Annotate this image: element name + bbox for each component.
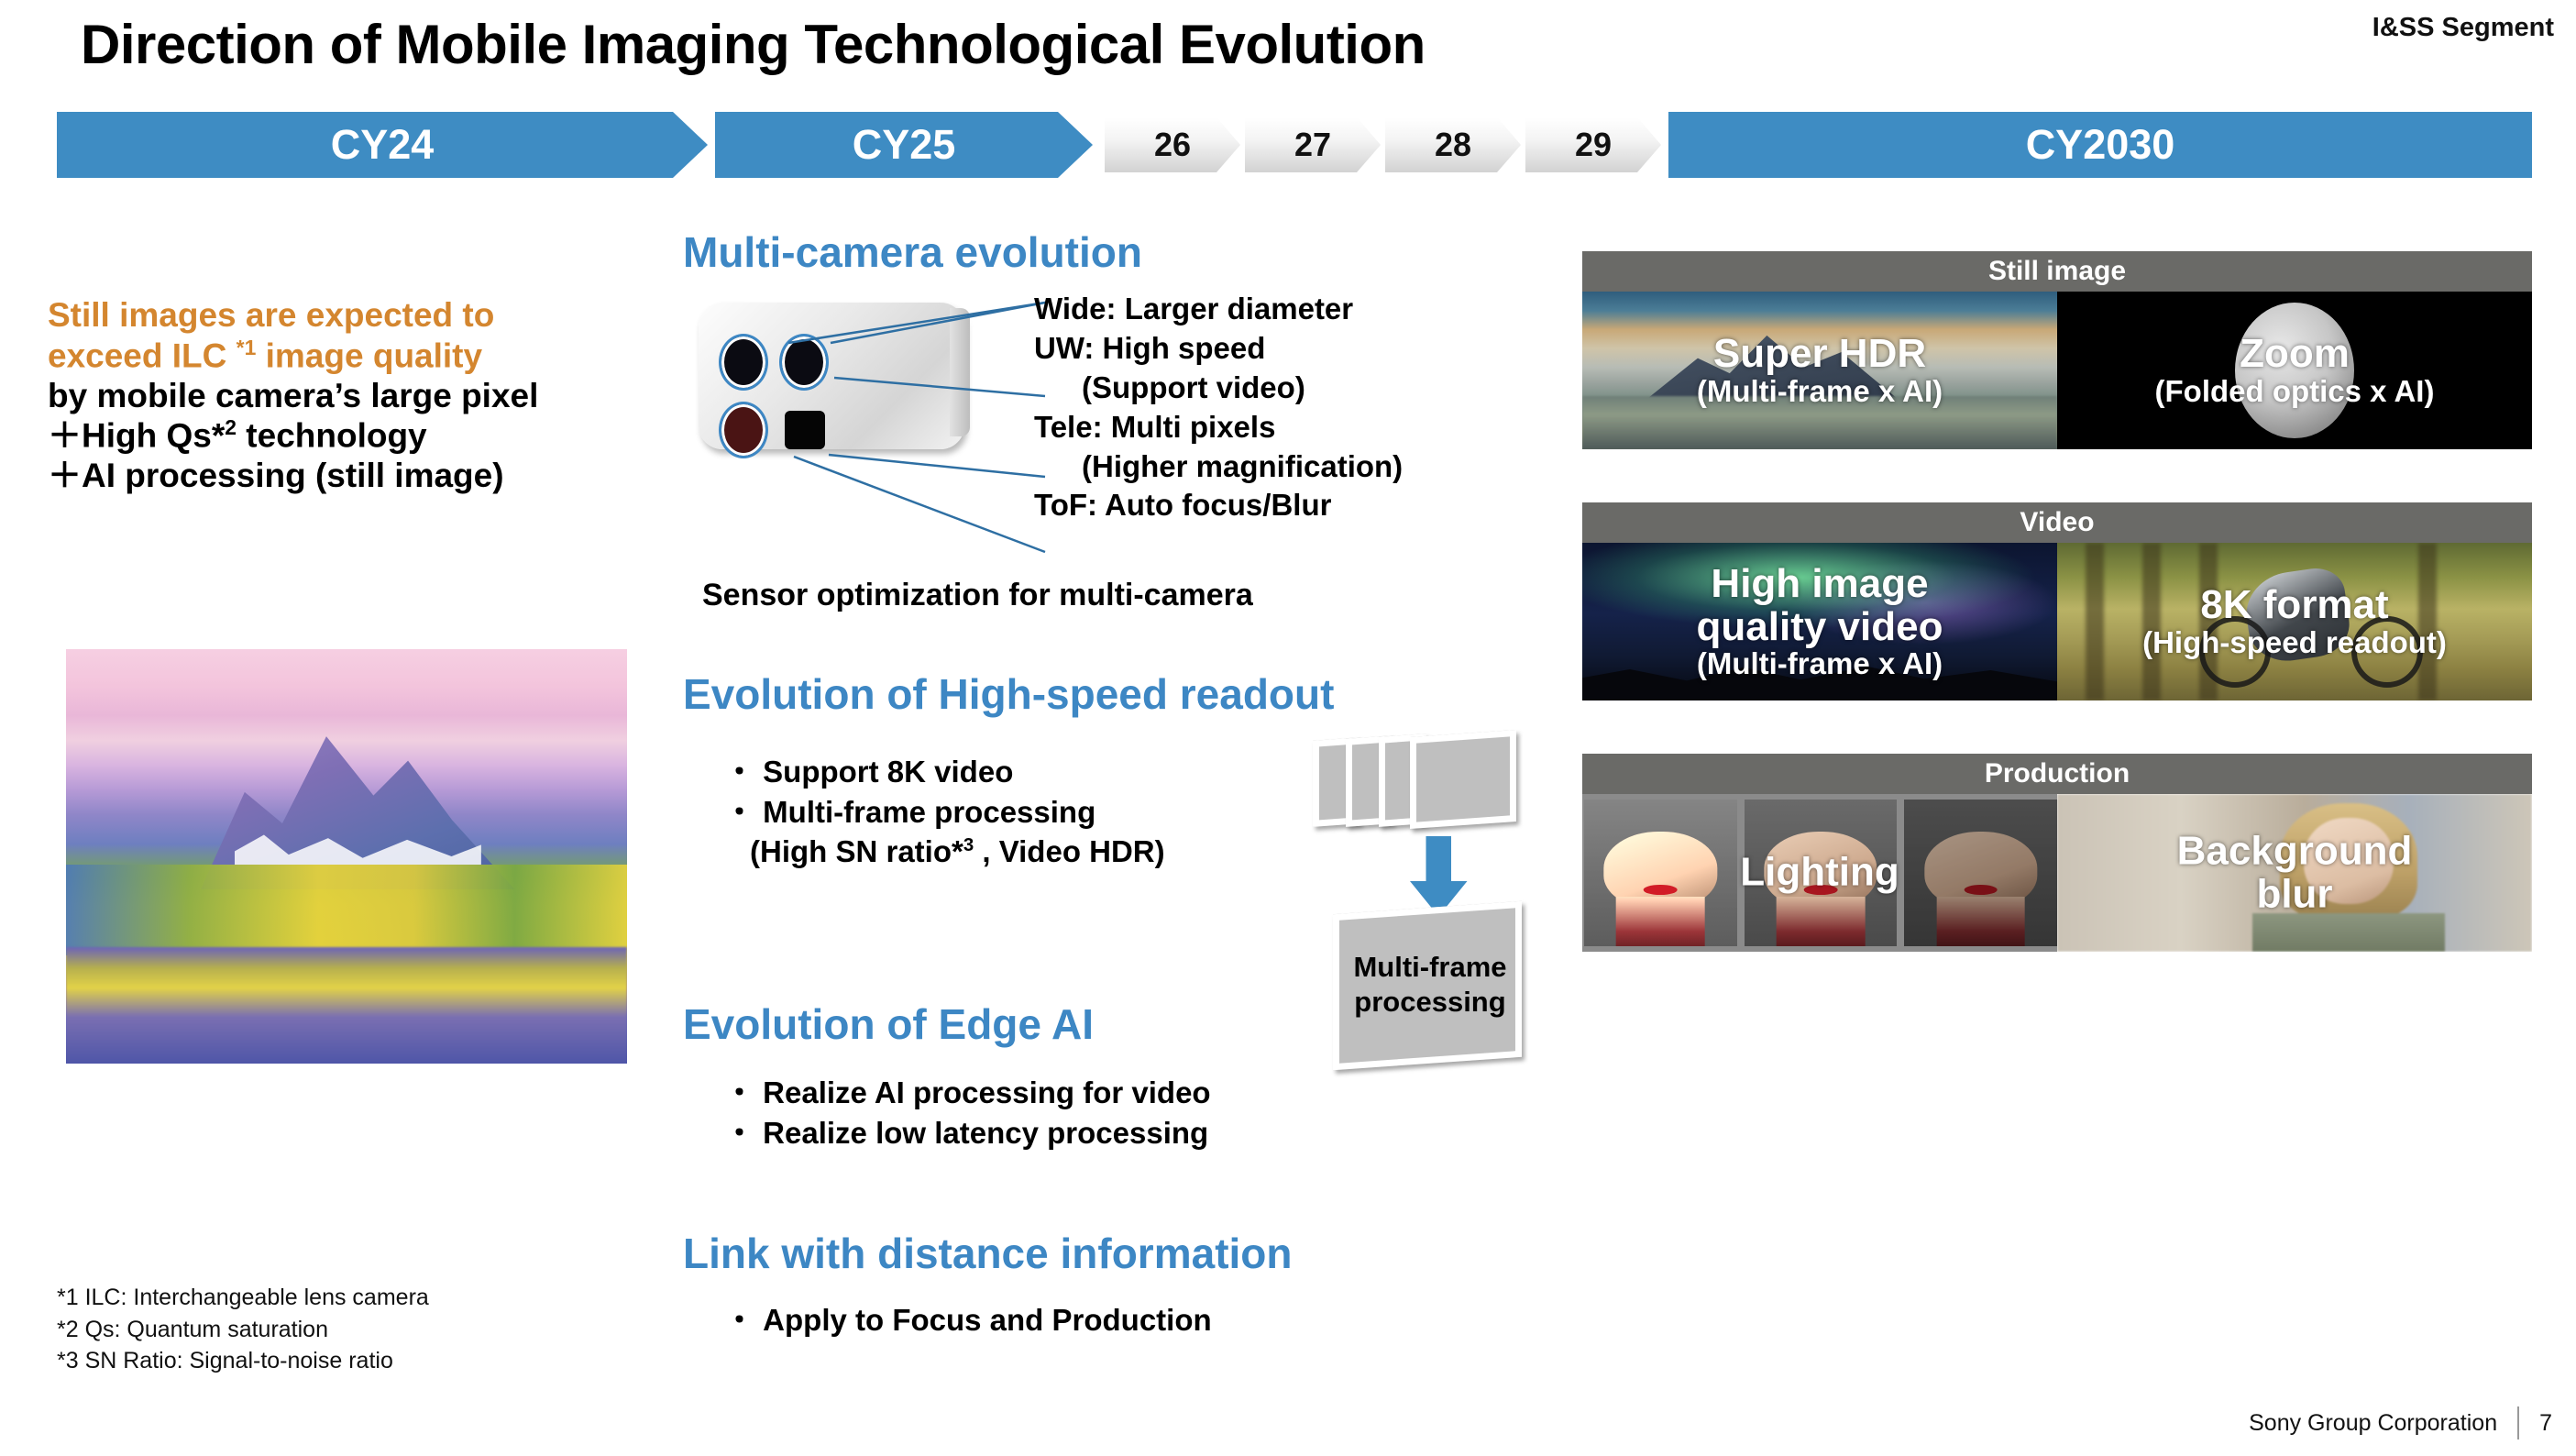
- sensor-optimization-note: Sensor optimization for multi-camera: [702, 578, 1253, 613]
- lead-orange-line-2: exceed ILC *1 image quality: [48, 336, 708, 376]
- lead-orange-post: image quality: [256, 336, 482, 374]
- multi-frame-label: Multi-frame processing: [1320, 950, 1540, 1020]
- forest-shape: [66, 865, 627, 955]
- footer: Sony Group Corporation 7: [2249, 1406, 2552, 1439]
- panel-tile-lighting[interactable]: Lighting: [1582, 794, 2057, 952]
- timeline-label: CY25: [853, 121, 956, 169]
- edge-ai-bullet-1: ・ Realize AI processing for video: [724, 1073, 1421, 1113]
- caption-8k-format: 8K format (High-speed readout): [2057, 584, 2532, 659]
- footnote-marker-2: 2: [225, 415, 237, 439]
- link-distance-bullet-1: ・ Apply to Focus and Production: [724, 1300, 1421, 1340]
- panel-body-still-image: Super HDR (Multi-frame x AI) Zoom (Folde…: [1582, 292, 2532, 449]
- callout-wide: Wide: Larger diameter: [1034, 292, 1353, 325]
- heading-edge-ai: Evolution of Edge AI: [683, 999, 1094, 1049]
- link-distance-bullet-list: ・ Apply to Focus and Production: [724, 1300, 1421, 1340]
- multi-frame-processing-graphic: Multi-frame processing: [1311, 734, 1540, 1064]
- readout-sub-pre: (High SN ratio*: [750, 834, 963, 868]
- caption-main-line-1: Background: [2057, 830, 2532, 873]
- neck-hand-shape: [1936, 897, 2025, 946]
- footer-company: Sony Group Corporation: [2249, 1410, 2497, 1437]
- multi-frame-label-line-2: processing: [1354, 986, 1505, 1018]
- timeline-segment-cy25[interactable]: CY25: [715, 112, 1093, 178]
- panel-tile-super-hdr[interactable]: Super HDR (Multi-frame x AI): [1582, 292, 2057, 449]
- footer-divider: [2517, 1406, 2519, 1439]
- multi-frame-label-line-1: Multi-frame: [1353, 951, 1506, 983]
- caption-main: Super HDR: [1582, 333, 2057, 376]
- footnote-1: *1 ILC: Interchangeable lens camera: [57, 1282, 429, 1314]
- caption-super-hdr: Super HDR (Multi-frame x AI): [1582, 333, 2057, 408]
- heading-multi-camera-evolution: Multi-camera evolution: [683, 227, 1142, 277]
- lead-black-line-1: by mobile camera’s large pixel: [48, 376, 708, 416]
- edge-ai-bullet-list: ・ Realize AI processing for video ・ Real…: [724, 1073, 1421, 1153]
- caption-main-line-2: quality video: [1582, 606, 2057, 649]
- caption-zoom: Zoom (Folded optics x AI): [2057, 333, 2532, 408]
- caption-main: Zoom: [2057, 333, 2532, 376]
- timeline-segment-27[interactable]: 27: [1245, 117, 1381, 172]
- timeline-segment-28[interactable]: 28: [1385, 117, 1521, 172]
- segment-tag: I&SS Segment: [2372, 13, 2554, 43]
- timeline-segment-cy2030[interactable]: CY2030: [1668, 112, 2532, 178]
- caption-sub: (High-speed readout): [2057, 627, 2532, 659]
- panel-tile-high-image-quality-video[interactable]: High image quality video (Multi-frame x …: [1582, 543, 2057, 700]
- panel-still-image: Still image Super HDR (Multi-frame x AI)…: [1582, 251, 2532, 449]
- timeline-label: 27: [1245, 117, 1381, 172]
- panel-body-production: Lighting Background blur: [1582, 794, 2532, 952]
- timeline-label: 29: [1525, 117, 1661, 172]
- panel-video: Video High image quality video (Multi-fr…: [1582, 502, 2532, 700]
- caption-sub: (Multi-frame x AI): [1582, 648, 2057, 680]
- wide-lens-icon: [719, 334, 768, 391]
- panel-header-production: Production: [1582, 754, 2532, 794]
- down-arrow-icon: [1410, 836, 1468, 917]
- heading-link-with-distance: Link with distance information: [683, 1229, 1292, 1278]
- lead-orange-line-1: Still images are expected to: [48, 295, 708, 336]
- panel-header-video: Video: [1582, 502, 2532, 543]
- ultrawide-lens-icon: [779, 334, 829, 391]
- caption-main: Lighting: [1582, 852, 2057, 895]
- caption-main-line-2: blur: [2057, 873, 2532, 916]
- phone-side-edge: [950, 308, 970, 436]
- tof-sensor-icon: [785, 411, 825, 449]
- lead-black-line-3: ＋AI processing (still image): [48, 456, 708, 496]
- tele-lens-icon: [719, 402, 768, 458]
- lead-black-line-2: ＋High Qs*2 technology: [48, 415, 708, 456]
- caption-main-line-1: High image: [1582, 563, 2057, 606]
- footnote-3: *3 SN Ratio: Signal-to-noise ratio: [57, 1345, 429, 1377]
- caption-sub: (Folded optics x AI): [2057, 376, 2532, 408]
- lead-black-pre: ＋High Qs*: [48, 417, 225, 455]
- camera-callout-list: Wide: Larger diameter UW: High speed (Su…: [1034, 290, 1602, 525]
- edge-ai-bullet-2: ・ Realize low latency processing: [724, 1113, 1421, 1153]
- callout-tele: Tele: Multi pixels: [1034, 410, 1275, 444]
- neck-hand-shape: [1777, 897, 1866, 946]
- landscape-photo: [66, 649, 627, 1064]
- caption-high-image-quality-video: High image quality video (Multi-frame x …: [1582, 563, 2057, 680]
- phone-camera-module-diagram: [699, 303, 964, 449]
- timeline-bar: CY24 CY25 26 27 28 29 CY2030: [0, 112, 2576, 178]
- callout-uw-sub: (Support video): [1034, 369, 1602, 408]
- caption-background-blur: Background blur: [2057, 830, 2532, 915]
- panel-tile-8k-format[interactable]: 8K format (High-speed readout): [2057, 543, 2532, 700]
- heading-high-speed-readout: Evolution of High-speed readout: [683, 669, 1334, 719]
- panel-body-video: High image quality video (Multi-frame x …: [1582, 543, 2532, 700]
- lead-black-post: technology: [237, 417, 427, 455]
- shirt-shape: [2252, 913, 2445, 952]
- timeline-segment-cy24[interactable]: CY24: [57, 112, 708, 178]
- footnote-2: *2 Qs: Quantum saturation: [57, 1314, 429, 1346]
- neck-hand-shape: [1616, 897, 1705, 946]
- footnotes: *1 ILC: Interchangeable lens camera *2 Q…: [57, 1282, 429, 1377]
- callout-uw: UW: High speed: [1034, 331, 1265, 365]
- footnote-marker-3: 3: [963, 834, 974, 855]
- timeline-segment-29[interactable]: 29: [1525, 117, 1661, 172]
- panel-tile-background-blur[interactable]: Background blur: [2057, 794, 2532, 952]
- caption-sub: (Multi-frame x AI): [1582, 376, 2057, 408]
- panel-header-still-image: Still image: [1582, 251, 2532, 292]
- timeline-label: 26: [1105, 117, 1240, 172]
- timeline-label: 28: [1385, 117, 1521, 172]
- water-reflection-shape: [66, 947, 627, 1064]
- callout-tof: ToF: Auto focus/Blur: [1034, 488, 1331, 522]
- caption-lighting: Lighting: [1582, 852, 2057, 895]
- timeline-label: CY24: [331, 121, 435, 169]
- lead-orange-pre: exceed ILC: [48, 336, 237, 374]
- footnote-marker-1: *1: [237, 336, 257, 359]
- panel-production: Production: [1582, 754, 2532, 952]
- footer-page-number: 7: [2539, 1410, 2552, 1437]
- timeline-segment-26[interactable]: 26: [1105, 117, 1240, 172]
- timeline-label: CY2030: [2026, 121, 2175, 169]
- lead-statement: Still images are expected to exceed ILC …: [48, 295, 708, 496]
- page-title: Direction of Mobile Imaging Technologica…: [81, 13, 1426, 76]
- callout-tele-sub: (Higher magnification): [1034, 447, 1602, 487]
- panel-tile-zoom[interactable]: Zoom (Folded optics x AI): [2057, 292, 2532, 449]
- readout-sub-post: , Video HDR): [974, 834, 1164, 868]
- caption-main: 8K format: [2057, 584, 2532, 627]
- frame-card: [1410, 730, 1516, 829]
